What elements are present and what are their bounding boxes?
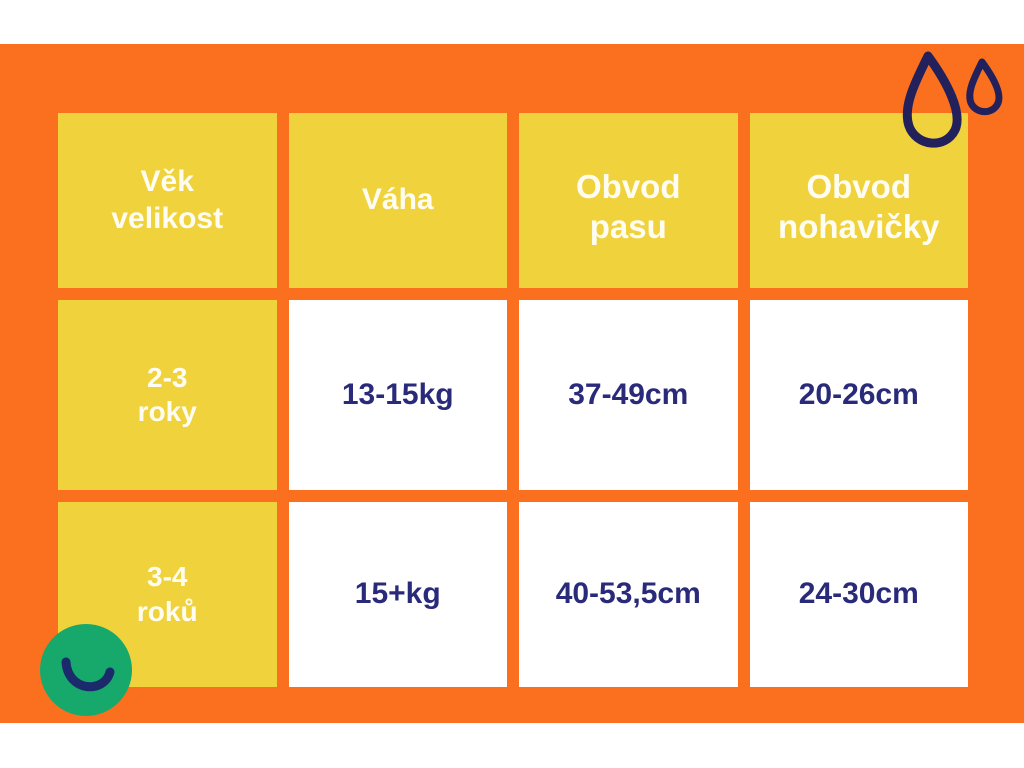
row1-age-line2: roky (138, 396, 197, 427)
header-waist-line1: Obvod (576, 168, 681, 205)
header-leg-line2: nohavičky (778, 208, 939, 245)
orange-poster-panel: Věk velikost Váha Obvod pasu Obvod nohav… (0, 44, 1024, 723)
table-header-waist: Obvod pasu (519, 113, 738, 288)
table-row: 2-3 roky (58, 300, 277, 490)
header-leg-line1: Obvod (806, 168, 911, 205)
poster-canvas: Věk velikost Váha Obvod pasu Obvod nohav… (0, 0, 1024, 768)
header-waist-line2: pasu (590, 208, 667, 245)
size-chart-table: Věk velikost Váha Obvod pasu Obvod nohav… (58, 113, 968, 687)
table-header-weight: Váha (289, 113, 508, 288)
row1-weight-value: 13-15kg (289, 300, 508, 490)
row2-age-line2: roků (137, 596, 198, 627)
table-row: 3-4 roků (58, 502, 277, 687)
row1-age-line1: 2-3 (147, 362, 187, 393)
row2-leg-value: 24-30cm (750, 502, 969, 687)
table-header-age: Věk velikost (58, 113, 277, 288)
droplet-small-icon (970, 62, 999, 112)
row1-leg-value: 20-26cm (750, 300, 969, 490)
header-weight-line1: Váha (362, 183, 434, 216)
row2-age-line1: 3-4 (147, 561, 187, 592)
row2-weight-value: 15+kg (289, 502, 508, 687)
header-age-line1: Věk (141, 165, 194, 198)
header-age-line2: velikost (111, 202, 223, 235)
table-header-leg: Obvod nohavičky (750, 113, 969, 288)
row1-waist-value: 37-49cm (519, 300, 738, 490)
row2-waist-value: 40-53,5cm (519, 502, 738, 687)
